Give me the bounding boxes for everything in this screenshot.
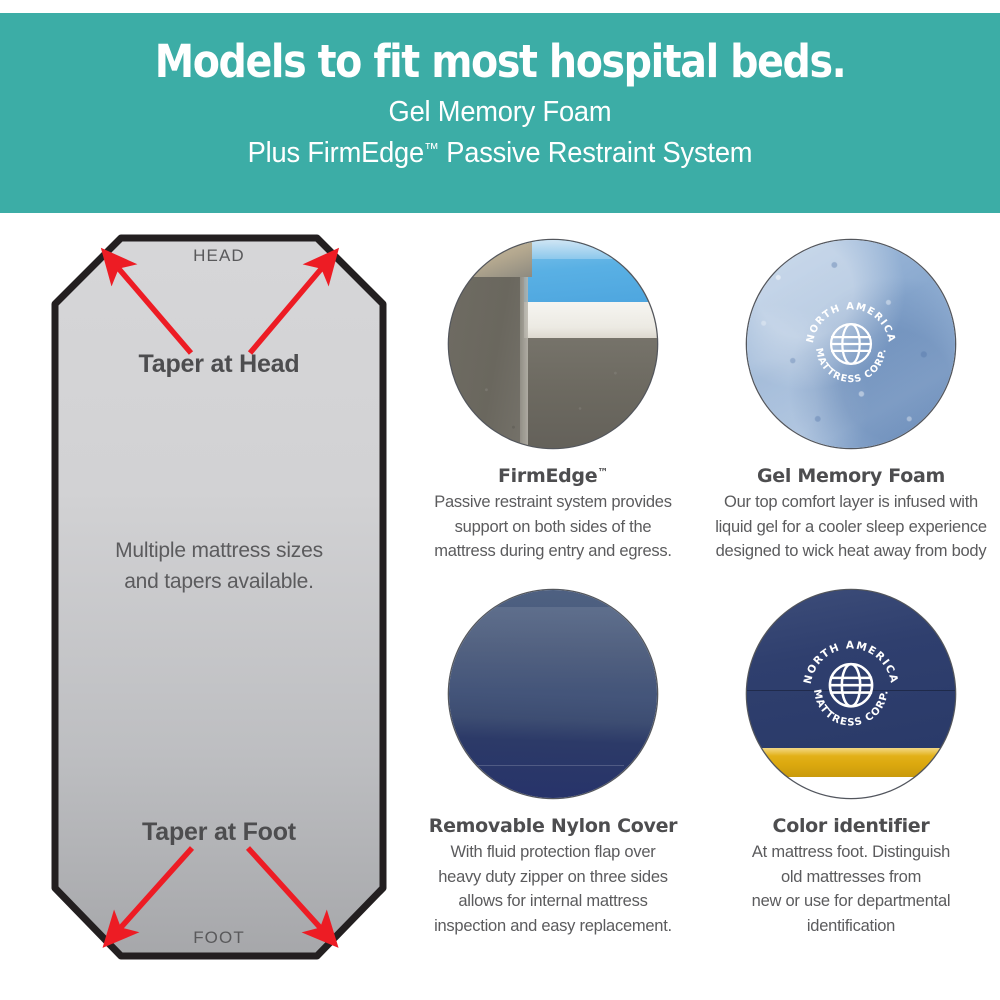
fabric-sheen	[449, 607, 657, 690]
feature-title-text: FirmEdge	[498, 465, 597, 487]
foam-speckle-texture	[449, 240, 657, 448]
header-banner: Models to fit most hospital beds. Gel Me…	[0, 13, 1000, 213]
gel-memory-foam-photo: NORTH AMERICA MATTRESS CORP.	[747, 240, 955, 448]
globe-icon	[830, 664, 872, 706]
header-subtitle-line-1: Gel Memory Foam	[30, 93, 970, 131]
feature-title-color-identifier: Color identifier	[702, 815, 1000, 837]
yellow-band-highlight	[747, 748, 955, 756]
feature-card-color-identifier: NORTH AMERICA MATTRESS CORP. Color ident…	[702, 590, 1000, 938]
cover-seam-line	[466, 765, 624, 767]
feature-card-firmedge: FirmEdge™ Passive restraint system provi…	[404, 240, 702, 564]
photo-white-base	[747, 777, 955, 798]
feature-body-gel-memory-foam: Our top comfort layer is infused with li…	[702, 490, 1000, 564]
north-america-mattress-corp-logo: NORTH AMERICA MATTRESS CORP.	[799, 292, 903, 396]
mattress-octagon-svg	[45, 228, 393, 976]
color-identifier-yellow-band-photo: NORTH AMERICA MATTRESS CORP.	[747, 590, 955, 798]
feature-card-removable-nylon-cover: Removable Nylon Cover With fluid protect…	[404, 590, 702, 938]
header-subtitle-line-2-pre: Plus FirmEdge	[248, 137, 424, 169]
infographic-page: Models to fit most hospital beds. Gel Me…	[0, 0, 1000, 1000]
navy-nylon-cover-photo	[449, 590, 657, 798]
logo-bottom-arc-text: MATTRESS CORP.	[813, 347, 889, 385]
feature-title-removable-nylon-cover: Removable Nylon Cover	[404, 815, 702, 837]
page-title: Models to fit most hospital beds.	[60, 31, 940, 93]
logo-bottom-arc-text: MATTRESS CORP.	[811, 688, 891, 728]
trademark-icon: ™	[424, 141, 439, 158]
feature-title-firmedge: FirmEdge™	[404, 465, 702, 487]
globe-icon	[831, 324, 871, 364]
firmedge-foam-layers-photo	[449, 240, 657, 448]
feature-grid: FirmEdge™ Passive restraint system provi…	[404, 240, 1000, 960]
mattress-outline	[55, 238, 383, 956]
feature-body-firmedge: Passive restraint system provides suppor…	[404, 490, 702, 564]
mattress-shape-diagram: HEAD Taper at Head Multiple mattress siz…	[45, 228, 393, 976]
trademark-icon: ™	[597, 466, 608, 479]
header-subtitle-line-2-post: Passive Restraint System	[439, 137, 752, 169]
header-subtitle-line-2: Plus FirmEdge™ Passive Restraint System	[30, 131, 970, 172]
feature-body-removable-nylon-cover: With fluid protection flap over heavy du…	[404, 840, 702, 938]
feature-body-color-identifier: At mattress foot. Distinguish old mattre…	[702, 840, 1000, 938]
north-america-mattress-corp-logo: NORTH AMERICA MATTRESS CORP.	[796, 630, 906, 740]
feature-card-gel-memory-foam: NORTH AMERICA MATTRESS CORP. Gel Memory …	[702, 240, 1000, 564]
feature-title-gel-memory-foam: Gel Memory Foam	[702, 465, 1000, 487]
